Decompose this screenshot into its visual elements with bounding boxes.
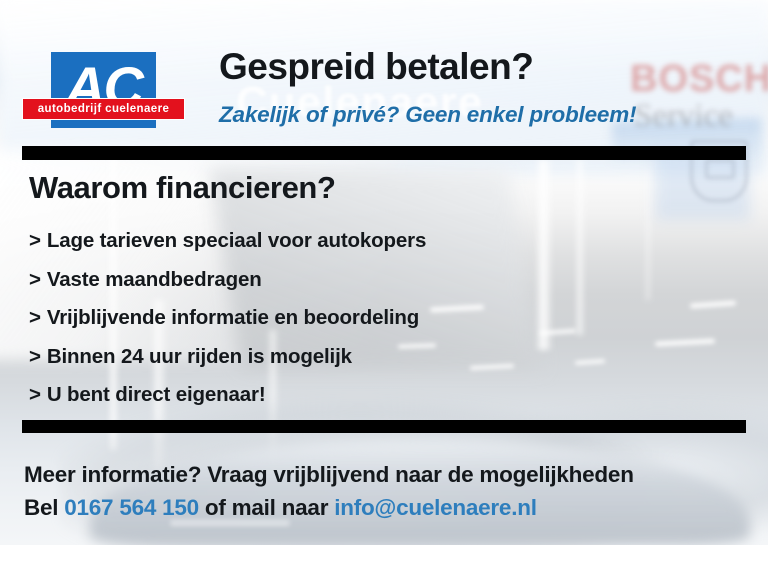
list-item: >U bent direct eigenaar! bbox=[29, 376, 426, 415]
background-pillar bbox=[576, 160, 584, 335]
bosch-wordmark: BOSCH bbox=[630, 60, 768, 98]
bosch-service-sign: BOSCH Service bbox=[630, 60, 768, 133]
email-link[interactable]: info@cuelenaere.nl bbox=[334, 495, 537, 520]
bottom-letterbox bbox=[0, 545, 768, 576]
background-pillar bbox=[536, 160, 552, 350]
footer-line-1: Meer informatie? Vraag vrijblijvend naar… bbox=[24, 458, 754, 491]
background-pillar bbox=[645, 170, 651, 300]
chevron-right-icon: > bbox=[29, 338, 41, 377]
background-light-streak bbox=[470, 364, 514, 370]
list-item-label: Lage tarieven speciaal voor autokopers bbox=[47, 229, 426, 252]
divider-top bbox=[22, 146, 746, 160]
list-item-label: Vrijblijvende informatie en beoordeling bbox=[47, 306, 419, 329]
chevron-right-icon: > bbox=[29, 261, 41, 300]
chevron-right-icon: > bbox=[29, 376, 41, 415]
divider-bottom bbox=[22, 420, 746, 433]
list-item: >Vrijblijvende informatie en beoordeling bbox=[29, 299, 426, 338]
page-title: Gespreid betalen? bbox=[219, 46, 533, 88]
background-light-streak bbox=[575, 359, 605, 365]
section-title: Waarom financieren? bbox=[29, 170, 336, 206]
phone-number-link[interactable]: 0167 564 150 bbox=[64, 495, 199, 520]
list-item: >Lage tarieven speciaal voor autokopers bbox=[29, 222, 426, 261]
background-light-streak bbox=[690, 300, 736, 308]
list-item-label: U bent direct eigenaar! bbox=[47, 383, 266, 406]
finance-promo-banner: BOSCH Service Cuelenaere AC autobedrijf … bbox=[0, 0, 768, 576]
footer-mail-prefix: of mail naar bbox=[199, 495, 334, 520]
chevron-right-icon: > bbox=[29, 299, 41, 338]
company-logo[interactable]: AC autobedrijf cuelenaere bbox=[22, 50, 188, 130]
list-item: >Binnen 24 uur rijden is mogelijk bbox=[29, 338, 426, 377]
footer-line-2: Bel 0167 564 150 of mail naar info@cuele… bbox=[24, 491, 754, 524]
list-item-label: Vaste maandbedragen bbox=[47, 268, 262, 291]
list-item: >Vaste maandbedragen bbox=[29, 261, 426, 300]
list-item-label: Binnen 24 uur rijden is mogelijk bbox=[47, 345, 352, 368]
logo-tagline: autobedrijf cuelenaere bbox=[22, 98, 185, 120]
footer-call-prefix: Bel bbox=[24, 495, 64, 520]
background-light-streak bbox=[655, 338, 715, 346]
bosch-service-label: Service bbox=[634, 100, 768, 133]
chevron-right-icon: > bbox=[29, 222, 41, 261]
page-subtitle: Zakelijk of privé? Geen enkel probleem! bbox=[219, 102, 636, 128]
benefits-list: >Lage tarieven speciaal voor autokopers … bbox=[29, 222, 426, 415]
contact-footer: Meer informatie? Vraag vrijblijvend naar… bbox=[24, 458, 754, 524]
